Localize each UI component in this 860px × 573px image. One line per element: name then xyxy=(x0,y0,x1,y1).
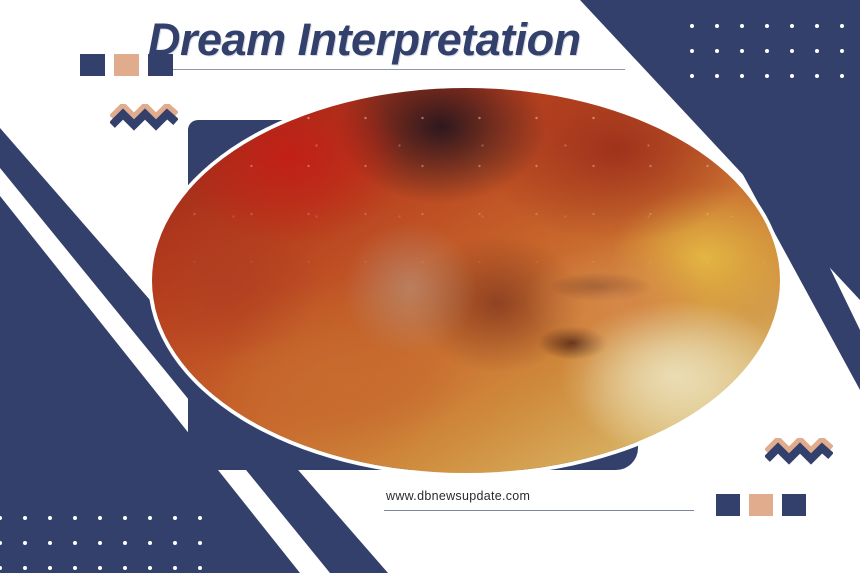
title-underline-rule xyxy=(165,69,625,70)
dot xyxy=(198,516,202,520)
hero-photo xyxy=(152,88,780,473)
square-peach xyxy=(114,54,139,76)
dot-grid-top-right xyxy=(690,24,860,78)
square-navy xyxy=(782,494,806,516)
page-title: Dream Interpretation xyxy=(148,12,648,68)
zigzag-bottom-right xyxy=(765,438,833,471)
poster-canvas: Dream Interpretation www.dbnewsupdate.co… xyxy=(0,0,860,573)
square-peach xyxy=(749,494,773,516)
website-url[interactable]: www.dbnewsupdate.com xyxy=(386,489,530,503)
website-underline-rule xyxy=(384,510,694,511)
dot xyxy=(198,541,202,545)
square-navy xyxy=(80,54,105,76)
square-trio-top-left xyxy=(80,54,173,76)
square-navy xyxy=(716,494,740,516)
square-navy xyxy=(148,54,173,76)
dot xyxy=(198,566,202,570)
photo-star-speckles xyxy=(152,88,780,473)
dot-grid-bottom-left xyxy=(0,516,202,570)
zigzag-icon xyxy=(110,104,178,132)
title-block: Dream Interpretation xyxy=(148,12,648,68)
website-block: www.dbnewsupdate.com xyxy=(386,489,530,503)
square-trio-bottom-right xyxy=(716,494,806,516)
zigzag-top-left xyxy=(110,104,178,137)
zigzag-icon xyxy=(765,438,833,466)
